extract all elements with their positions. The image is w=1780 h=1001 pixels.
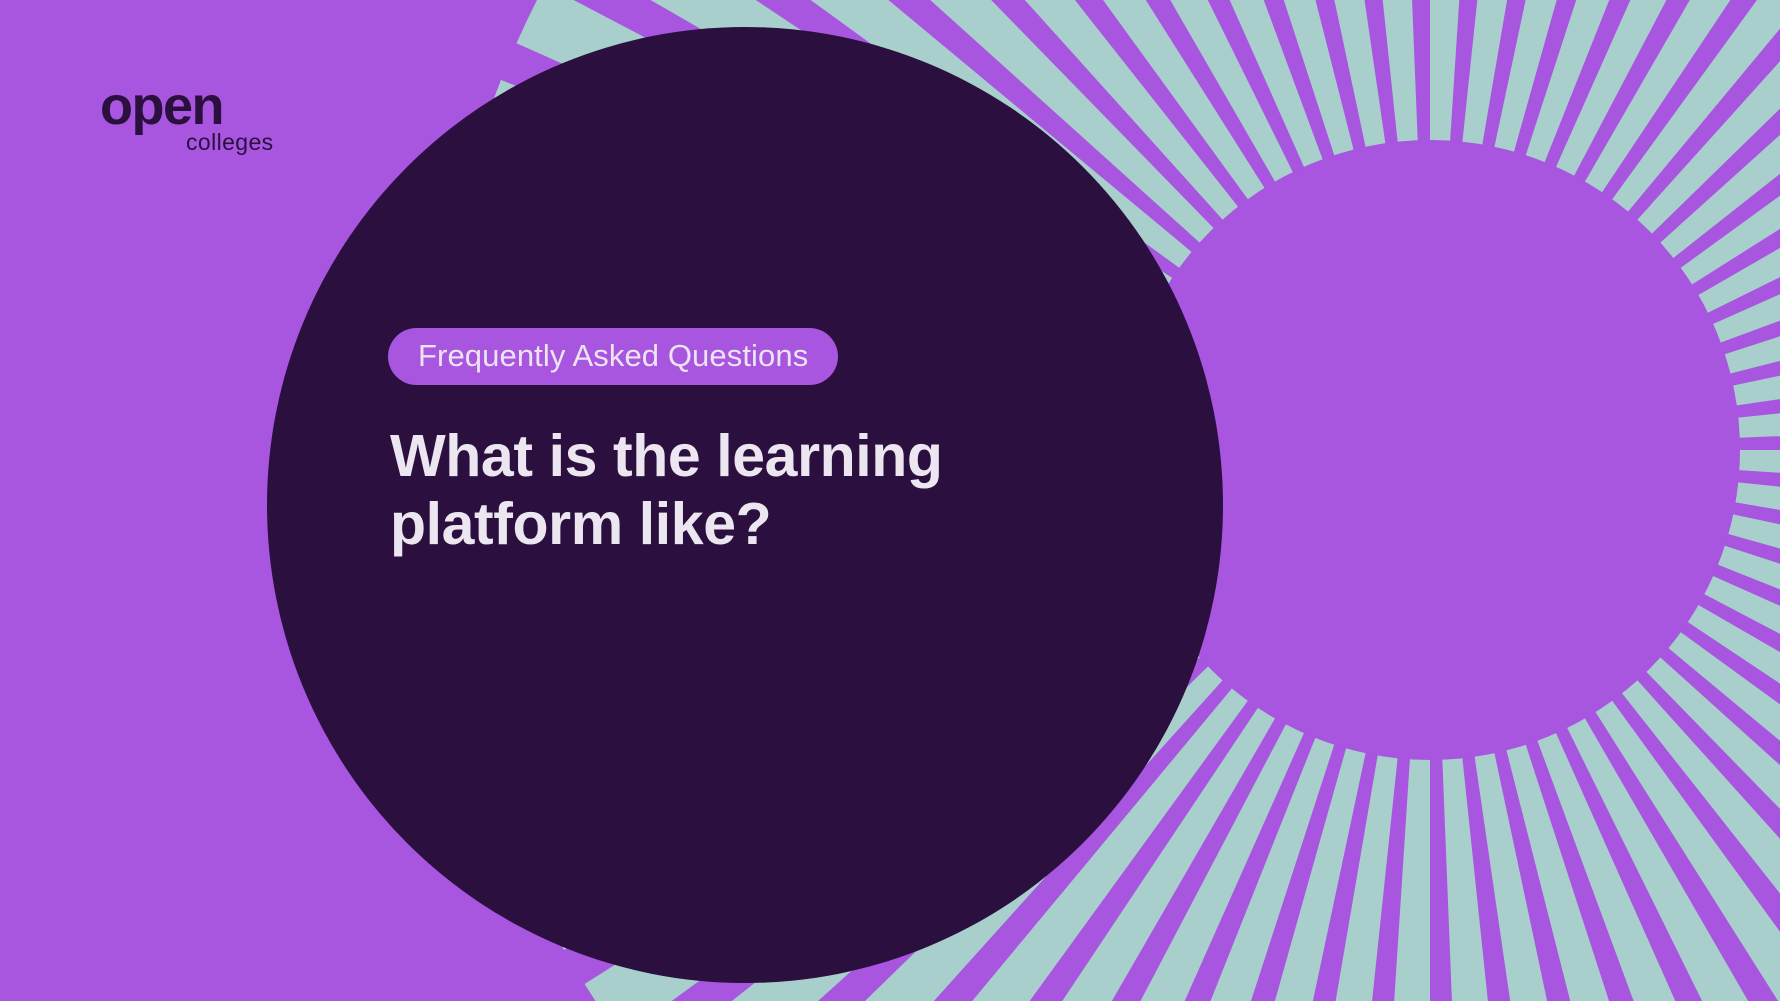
- heading-line-2: platform like?: [390, 490, 970, 558]
- logo-mark: open colleges: [100, 78, 290, 158]
- logo-wordmark-colleges: colleges: [186, 129, 274, 155]
- slide-canvas: open colleges Frequently Asked Questions…: [0, 0, 1780, 1001]
- faq-question-heading: What is the learning platform like?: [390, 422, 970, 559]
- open-colleges-logo[interactable]: open colleges: [100, 78, 290, 158]
- slide-content: Frequently Asked Questions What is the l…: [388, 328, 1028, 559]
- logo-wordmark-open: open: [100, 76, 223, 136]
- faq-category-badge: Frequently Asked Questions: [388, 328, 838, 385]
- heading-line-1: What is the learning: [390, 422, 970, 490]
